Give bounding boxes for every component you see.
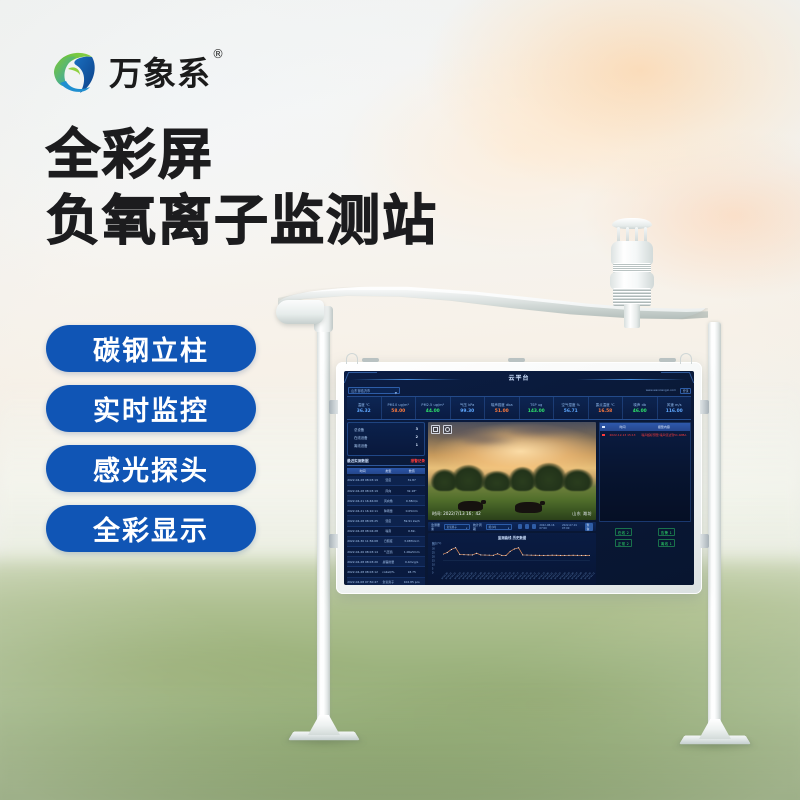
brand-name-text: 万象系 (109, 54, 211, 93)
cell-time: 2022-04-28 08:03:20 (347, 560, 378, 564)
feature-pill-4[interactable]: 全彩显示 (46, 505, 256, 552)
metric-label: 露点温度 ℃ (589, 402, 623, 407)
status-badge: 在线 2 (615, 528, 632, 536)
chart-element-select[interactable]: 负氧离子 ▾ (444, 524, 470, 530)
chart-data-point (585, 555, 586, 556)
table-row[interactable]: 2022-04-28 08:03:12co2wt/%18.75 (347, 567, 425, 577)
chart-data-point (560, 555, 561, 556)
table-row[interactable]: 2022-04-08 07:50:47负氧离子102.85 pcs (347, 578, 425, 585)
cell-value: 0.38m/s (398, 499, 425, 503)
top-clip-1 (362, 358, 379, 362)
dashboard-screen[interactable]: 云平台 山东省临沂市 ▼ www.wanxiangxi.com 登录 温度 ℃ … (344, 371, 694, 585)
dashboard-subheader: 山东省临沂市 ▼ www.wanxiangxi.com 登录 (344, 387, 694, 395)
cell-value: 0.4mcg/L (398, 560, 425, 564)
dashboard-title: 云平台 (344, 373, 694, 382)
side-bracket-right-top (700, 400, 709, 414)
chart-data-point (577, 555, 578, 556)
metric-dewpoint: 露点温度 ℃ 16.58 (589, 397, 624, 419)
metric-value: 143.00 (520, 409, 554, 414)
mount-hook-left (346, 353, 358, 364)
alarm-col-index (600, 425, 607, 429)
cell-time: 2022-04-08 07:50:47 (347, 580, 378, 584)
cell-time: 2022-04-28 08:03:19 (347, 489, 378, 493)
feature-pill-list: 碳钢立柱 实时监控 感光探头 全彩显示 (46, 325, 256, 552)
chart-y-tick: 35 (432, 544, 435, 547)
metric-pm25: PM2.5 ug/m³ 44.00 (416, 397, 451, 419)
chart-query-button[interactable]: 查询 (585, 523, 593, 531)
metric-value: 16.58 (589, 409, 623, 414)
metric-label: 空气湿度 % (554, 402, 588, 407)
cell-type: co2wt/% (378, 570, 398, 574)
cell-time: 2022-04-28 08:05:25 (347, 519, 378, 523)
chart-filter-label-2: 统计周期 (473, 523, 483, 531)
chart-data-point (547, 555, 548, 556)
side-bracket-left-bottom (329, 534, 338, 548)
table-row[interactable]: 2022-04-30 11:56:08日照度3.087klx·h (347, 537, 425, 547)
chart-data-point (568, 555, 569, 556)
cell-time: 2022-04-30 11:56:08 (347, 539, 378, 543)
chart-data-point (543, 555, 544, 556)
dashboard-body: 总设备 3 在线设备 2 离线设备 1 最近实测数据 (344, 420, 694, 585)
headline-line-1: 全彩屏 (46, 122, 438, 188)
chart-y-axis: 05101520253035 (432, 545, 442, 573)
alarm-records-link[interactable]: 报警记录 (411, 459, 425, 464)
chart-data-point (468, 554, 469, 555)
site-select-value: 山东省临沂市 (351, 389, 370, 393)
table-row[interactable]: 2022-04-21 16:10:11降雨量0.05mm (347, 506, 425, 516)
device-stat-row: 在线设备 2 (354, 435, 418, 440)
table-row[interactable]: 2022-04-26 08:03:14气压值1.00e5mm (347, 547, 425, 557)
base-plate-left (291, 722, 357, 742)
metric-tsp: TSP ug 143.00 (520, 397, 555, 419)
chart-toolbar[interactable]: 监测要素 负氧离子 ▾ 统计周期 按小时 ▾ (428, 522, 596, 531)
device-stat-label: 在线设备 (354, 435, 368, 440)
dashboard-header: 云平台 (344, 371, 694, 387)
chart-data-point (589, 555, 590, 556)
video-controls[interactable] (431, 425, 452, 434)
video-timestamp: 时间: 2022/7/13 16：42 (432, 511, 481, 517)
top-clip-2 (508, 358, 525, 362)
metric-label: PM2.5 ug/m³ (416, 403, 450, 407)
chart-data-point (501, 555, 502, 556)
feature-pill-2[interactable]: 实时监控 (46, 385, 256, 432)
chart-element-value: 负氧离子 (447, 526, 457, 529)
chart-y-tick: 25 (432, 552, 435, 555)
chart-y-tick: 10 (432, 564, 435, 567)
side-bracket-right-bottom (700, 534, 709, 548)
cell-type: 噪音 (378, 529, 398, 533)
chart-y-tick: 20 (432, 556, 435, 559)
mount-hook-right (680, 353, 692, 364)
cell-time: 2022-04-26 08:03:14 (347, 550, 378, 554)
device-stat-value: 3 (416, 427, 418, 432)
metric-value: 99.30 (451, 409, 485, 414)
history-line-chart: 监测曲线 历史数据 数值(℃) 05101520253035 07-01 000… (428, 533, 596, 585)
cell-value: 31.87 (398, 478, 425, 482)
metric-value: 46.00 (623, 409, 657, 414)
cell-type: 日照度 (378, 539, 398, 543)
metric-value: 58.00 (382, 409, 416, 414)
chart-date-to[interactable]: 2022-07-01 07:00 (562, 524, 582, 530)
cell-value: 0.8ln (398, 529, 425, 533)
chart-y-tick: 5 (432, 568, 433, 571)
alarm-list-panel[interactable]: 时间 报警内容 2022-12-13 15:13 噪声超标预警 噪声值达到51.… (599, 422, 691, 522)
measurement-table-rows[interactable]: 2022-04-28 08:03:19温度31.87 2022-04-28 08… (347, 476, 425, 585)
sensor-upper-body (611, 241, 653, 265)
chart-data-point (522, 554, 523, 555)
export-icon[interactable] (518, 524, 522, 529)
snapshot-icon[interactable] (443, 425, 452, 434)
video-site-label: 山东 潍坊 (572, 511, 592, 517)
chart-period-select[interactable]: 按小时 ▾ (486, 524, 512, 530)
support-post-right (708, 322, 721, 732)
chart-y-tick: 0 (432, 572, 433, 575)
ultrasonic-weather-sensor-icon (604, 218, 660, 326)
metric-noise: 噪声 db 46.00 (623, 397, 658, 419)
chart-data-point (497, 553, 498, 554)
cell-type: 气压值 (378, 550, 398, 554)
chart-data-point (489, 555, 490, 556)
chart-data-point (455, 547, 456, 548)
side-bracket-left-top (329, 400, 338, 414)
video-cow-left (458, 501, 483, 511)
chart-data-point (472, 554, 473, 555)
chevron-down-icon: ▼ (395, 390, 397, 397)
chart-plot-area: 数值(℃) 05101520253035 07-01 0007-01 0107-… (432, 541, 592, 579)
chart-data-point (493, 555, 494, 556)
metric-label: PM10 ug/m³ (382, 403, 416, 407)
device-stat-row: 离线设备 1 (354, 443, 418, 448)
metric-humidity: 空气湿度 % 56.71 (554, 397, 589, 419)
alarm-list-row[interactable]: 2022-12-13 15:13 噪声超标预警 噪声值达到51.0dBA (600, 431, 690, 439)
chart-data-point (518, 547, 519, 548)
metric-value: 44.00 (416, 409, 450, 414)
metric-value: 36.32 (347, 409, 381, 414)
measurement-table-columns: 时间 类型 数值 (347, 468, 425, 474)
feature-pill-3[interactable]: 感光探头 (46, 445, 256, 492)
metric-label: 风速 m/s (658, 402, 692, 407)
status-badge-row-1: 在线 2 告警 1 (602, 528, 688, 536)
device-stat-label: 总设备 (354, 427, 364, 432)
top-clip-3 (659, 358, 676, 362)
column-header-time: 时间 (347, 469, 378, 473)
table-view-icon[interactable] (525, 524, 529, 529)
chart-data-point (581, 555, 582, 556)
base-plate-right (682, 726, 748, 746)
brand-logo: 万象系 ® (48, 47, 211, 99)
dashboard-url: www.wanxiangxi.com (646, 388, 676, 392)
chart-title: 监测曲线 历史数据 (432, 535, 592, 540)
support-post-left (317, 312, 330, 730)
fullscreen-icon[interactable] (431, 425, 440, 434)
headline-line-2: 负氧离子监测站 (46, 188, 438, 254)
chart-data-point (564, 555, 565, 556)
metric-strip: 温度 ℃ 36.32 PM10 ug/m³ 58.00 PM2.5 ug/m³ … (347, 396, 691, 420)
chart-data-point (463, 554, 464, 555)
metric-temperature: 温度 ℃ 36.32 (347, 397, 382, 419)
device-stat-value: 1 (416, 443, 418, 448)
chart-view-icon[interactable] (532, 524, 536, 529)
alarm-col-time: 时间 (607, 425, 638, 429)
cell-value: 3.087klx·h (398, 539, 425, 543)
status-badge: 告警 1 (658, 528, 675, 536)
metric-noise-level: 噪声强度 dba 51.00 (485, 397, 520, 419)
poster-canvas: 万象系 ® 全彩屏 负氧离子监测站 碳钢立柱 实时监控 感光探头 全彩显示 (0, 0, 800, 800)
chart-data-point (526, 555, 527, 556)
canopy-left-tip (276, 300, 324, 324)
cell-type: 降雨量 (378, 509, 398, 513)
cell-type: 风向 (378, 489, 398, 493)
metric-windspeed: 风速 m/s 116.00 (658, 397, 692, 419)
table-row[interactable]: 2022-04-28 08:03:19温度31.87 (347, 476, 425, 486)
center-column: 时间: 2022/7/13 16：42 山东 潍坊 监测要素 负氧离子 ▾ 统计… (428, 422, 596, 585)
device-stat-label: 离线设备 (354, 443, 368, 448)
cell-value: 32.18° (398, 489, 425, 493)
table-row[interactable]: 2022-04-28 08:04:28噪音0.8ln (347, 527, 425, 537)
feature-pill-1[interactable]: 碳钢立柱 (46, 325, 256, 372)
chart-line-series (443, 548, 590, 556)
table-row[interactable]: 2022-04-28 08:03:20总辐射量0.4mcg/L (347, 557, 425, 567)
led-display-cabinet: 云平台 山东省临沂市 ▼ www.wanxiangxi.com 登录 温度 ℃ … (336, 362, 702, 594)
chart-data-point (505, 555, 506, 556)
status-badge-row-2: 正常 2 离线 1 (602, 539, 688, 547)
status-badge: 正常 2 (615, 539, 632, 547)
chart-data-point (514, 548, 515, 549)
chart-series-svg (443, 544, 590, 561)
alarm-row-content: 噪声超标预警 噪声值达到51.0dBA (638, 433, 690, 437)
chart-data-point (447, 552, 448, 553)
chart-data-point (556, 555, 557, 556)
cell-type: 负氧离子 (378, 580, 398, 584)
measurement-table-title: 最近实测数据 (347, 459, 369, 464)
table-row[interactable]: 2022-04-21 16:46:00风向角0.38m/s (347, 496, 425, 506)
chart-data-point (459, 554, 460, 555)
metric-pressure: 气压 kPa 99.30 (451, 397, 486, 419)
chart-data-point (539, 555, 540, 556)
cell-value: 102.85 pcs (398, 580, 425, 584)
brand-name: 万象系 ® (109, 57, 211, 90)
chart-data-point (484, 555, 485, 556)
alarm-row-time: 2022-12-13 15:13 (607, 433, 638, 437)
video-time-label: 时间: (432, 511, 442, 516)
device-stat-row: 总设备 3 (354, 427, 418, 432)
video-time-value: 2022/7/13 16：42 (443, 511, 481, 516)
metric-value: 56.71 (554, 409, 588, 414)
chart-x-axis-labels: 07-01 0007-01 0107-01 0207-01 0307-01 04… (443, 570, 590, 580)
alarm-row-dot (600, 433, 607, 437)
site-select[interactable]: 山东省临沂市 ▼ (348, 387, 400, 394)
sensor-mount-stem (624, 304, 640, 328)
measurement-table-header: 最近实测数据 报警记录 (347, 458, 425, 466)
cell-value: 18.75 (398, 570, 425, 574)
chart-data-point (573, 555, 574, 556)
cell-time: 2022-04-21 16:46:00 (347, 499, 378, 503)
alarm-list-header: 时间 报警内容 (600, 423, 690, 431)
status-badge: 离线 1 (658, 539, 675, 547)
chart-data-point (480, 554, 481, 555)
metric-label: 噪声 db (623, 402, 657, 407)
alarm-col-content: 报警内容 (638, 425, 690, 429)
cell-value: 0.05mm (398, 509, 425, 513)
left-column: 总设备 3 在线设备 2 离线设备 1 最近实测数据 (347, 422, 425, 585)
cell-type: 风向角 (378, 499, 398, 503)
column-header-type: 类型 (378, 469, 398, 473)
cell-time: 2022-04-28 08:04:28 (347, 529, 378, 533)
device-stats-panel: 总设备 3 在线设备 2 离线设备 1 (347, 422, 425, 456)
metric-value: 116.00 (658, 409, 692, 414)
cell-value: 1.00e5mm (398, 550, 425, 554)
chart-date-from[interactable]: 2022-08-16 07:00 (539, 524, 559, 530)
headline-block: 全彩屏 负氧离子监测站 (46, 122, 438, 254)
cell-type: 总辐射量 (378, 560, 398, 564)
chevron-down-icon: ▾ (508, 526, 509, 532)
cell-time: 2022-04-21 16:10:11 (347, 509, 378, 513)
table-row[interactable]: 2022-04-28 08:03:19风向32.18° (347, 486, 425, 496)
metric-label: 温度 ℃ (347, 402, 381, 407)
chart-y-tick: 15 (432, 560, 435, 563)
live-video-feed[interactable]: 时间: 2022/7/13 16：42 山东 潍坊 (428, 422, 596, 520)
cell-time: 2022-04-28 08:03:19 (347, 478, 378, 482)
metric-pm10: PM10 ug/m³ 58.00 (382, 397, 417, 419)
chart-data-point (476, 553, 477, 554)
chevron-down-icon: ▾ (466, 526, 467, 532)
table-row[interactable]: 2022-04-28 08:05:25湿度59.91 kw/h (347, 516, 425, 526)
chart-period-value: 按小时 (488, 526, 496, 529)
right-column: 时间 报警内容 2022-12-13 15:13 噪声超标预警 噪声值达到51.… (599, 422, 691, 585)
chart-filter-label-1: 监测要素 (431, 523, 441, 531)
cell-type: 温度 (378, 478, 398, 482)
swirl-globe-icon (48, 47, 100, 99)
metric-label: 气压 kPa (451, 402, 485, 407)
trademark-icon: ® (212, 48, 225, 60)
device-stat-value: 2 (416, 435, 418, 440)
chart-data-point (451, 549, 452, 550)
column-header-value: 数值 (398, 469, 425, 473)
cell-time: 2022-04-28 08:03:12 (347, 570, 378, 574)
chart-y-tick: 30 (432, 548, 435, 551)
cell-value: 59.91 kw/h (398, 519, 425, 523)
chart-data-point (552, 555, 553, 556)
metric-label: 噪声强度 dba (485, 402, 519, 407)
metric-value: 51.00 (485, 409, 519, 414)
chart-data-point (531, 555, 532, 556)
login-button[interactable]: 登录 (680, 388, 691, 394)
status-badge-group: 在线 2 告警 1 正常 2 离线 1 (599, 524, 691, 585)
cell-type: 湿度 (378, 519, 398, 523)
metric-label: TSP ug (520, 403, 554, 407)
video-cow-right (515, 502, 542, 513)
chart-data-point (510, 551, 511, 552)
chart-data-point (535, 555, 536, 556)
